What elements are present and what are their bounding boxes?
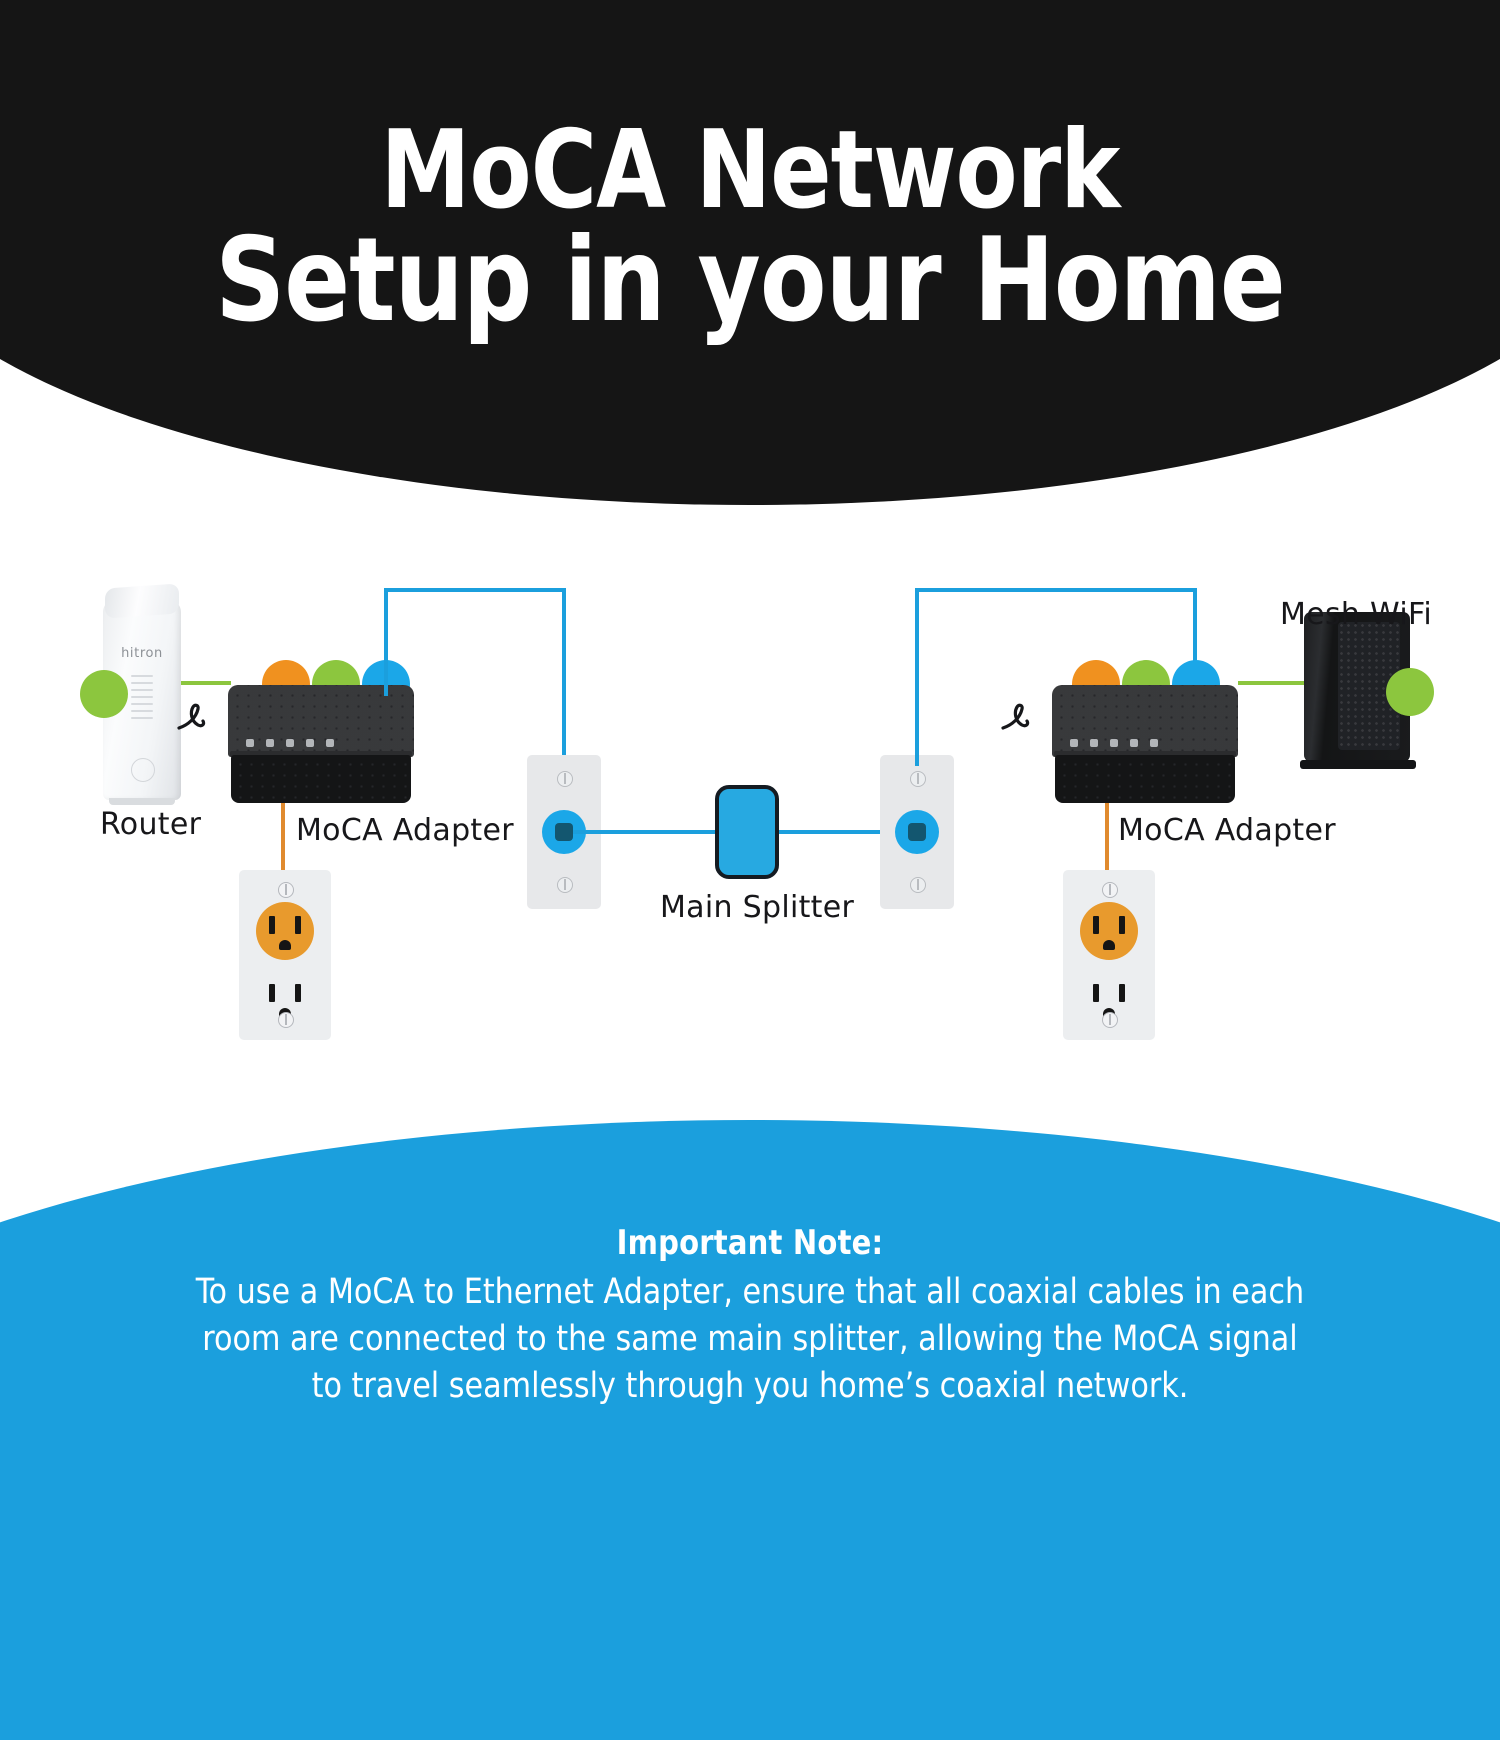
router-wifi-icon: [131, 758, 155, 782]
label-moca-adapter-right: MoCA Adapter: [1118, 813, 1336, 848]
page-title: MoCA Network Setup in your Home: [53, 118, 1448, 338]
label-moca-adapter-left: MoCA Adapter: [296, 813, 514, 848]
power-outlet-left: [239, 870, 331, 1040]
wall-plate-right-screw-top: [910, 771, 926, 787]
footer-band: [0, 1120, 1500, 1740]
ethernet-cable-adapter-to-mesh: [1238, 681, 1313, 685]
outlet-left-socket-top: [256, 902, 314, 960]
router-top-cap: [105, 583, 179, 618]
coax-cable-right-top-run: [915, 588, 1197, 592]
important-note-block: Important Note: To use a MoCA to Etherne…: [0, 1223, 1500, 1410]
router-brand-label: hitron: [103, 646, 181, 661]
wall-plate-right: [880, 755, 954, 909]
mesh-wifi-ethernet-port-icon: [1386, 668, 1434, 716]
router-ethernet-port-icon: [80, 670, 128, 718]
main-splitter-device: [715, 785, 779, 879]
adapter-right-led-row: [1070, 739, 1158, 747]
power-outlet-right: [1063, 870, 1155, 1040]
router-foot: [109, 798, 175, 805]
note-title: Important Note:: [38, 1223, 1463, 1263]
wall-plate-left-screw-bottom: [557, 877, 573, 893]
label-main-splitter: Main Splitter: [660, 890, 854, 925]
label-router: Router: [100, 807, 201, 842]
network-diagram: hitron: [0, 520, 1500, 1100]
coax-cable-left-drop: [562, 588, 566, 766]
outlet-right-screw-top: [1102, 882, 1118, 898]
note-body: To use a MoCA to Ethernet Adapter, ensur…: [184, 1269, 1317, 1410]
adapter-right-bottom-shell: [1055, 755, 1235, 803]
wall-plate-left-screw-top: [557, 771, 573, 787]
adapter-left-bottom-shell: [231, 755, 411, 803]
outlet-right-socket-top: [1080, 902, 1138, 960]
coax-cable-left-riser: [384, 588, 388, 696]
wall-plate-right-coax-jack: [895, 810, 939, 854]
coax-cable-right-riser: [915, 588, 919, 766]
adapter-left-led-row: [246, 739, 334, 747]
title-line-2: Setup in your Home: [53, 224, 1448, 338]
ethernet-cable-router-to-adapter: [181, 681, 231, 685]
adapter-left-brand-logo-icon: [172, 701, 208, 737]
adapter-right-brand-logo-icon: [996, 701, 1032, 737]
mesh-wifi-foot: [1300, 760, 1416, 769]
coax-cable-left-to-splitter: [573, 830, 719, 834]
outlet-left-screw-top: [278, 882, 294, 898]
outlet-left-screw-bottom: [278, 1012, 294, 1028]
coax-cable-left-top-run: [384, 588, 566, 592]
wall-plate-right-screw-bottom: [910, 877, 926, 893]
outlet-right-screw-bottom: [1102, 1012, 1118, 1028]
label-mesh-wifi: Mesh WiFi: [1280, 597, 1432, 632]
